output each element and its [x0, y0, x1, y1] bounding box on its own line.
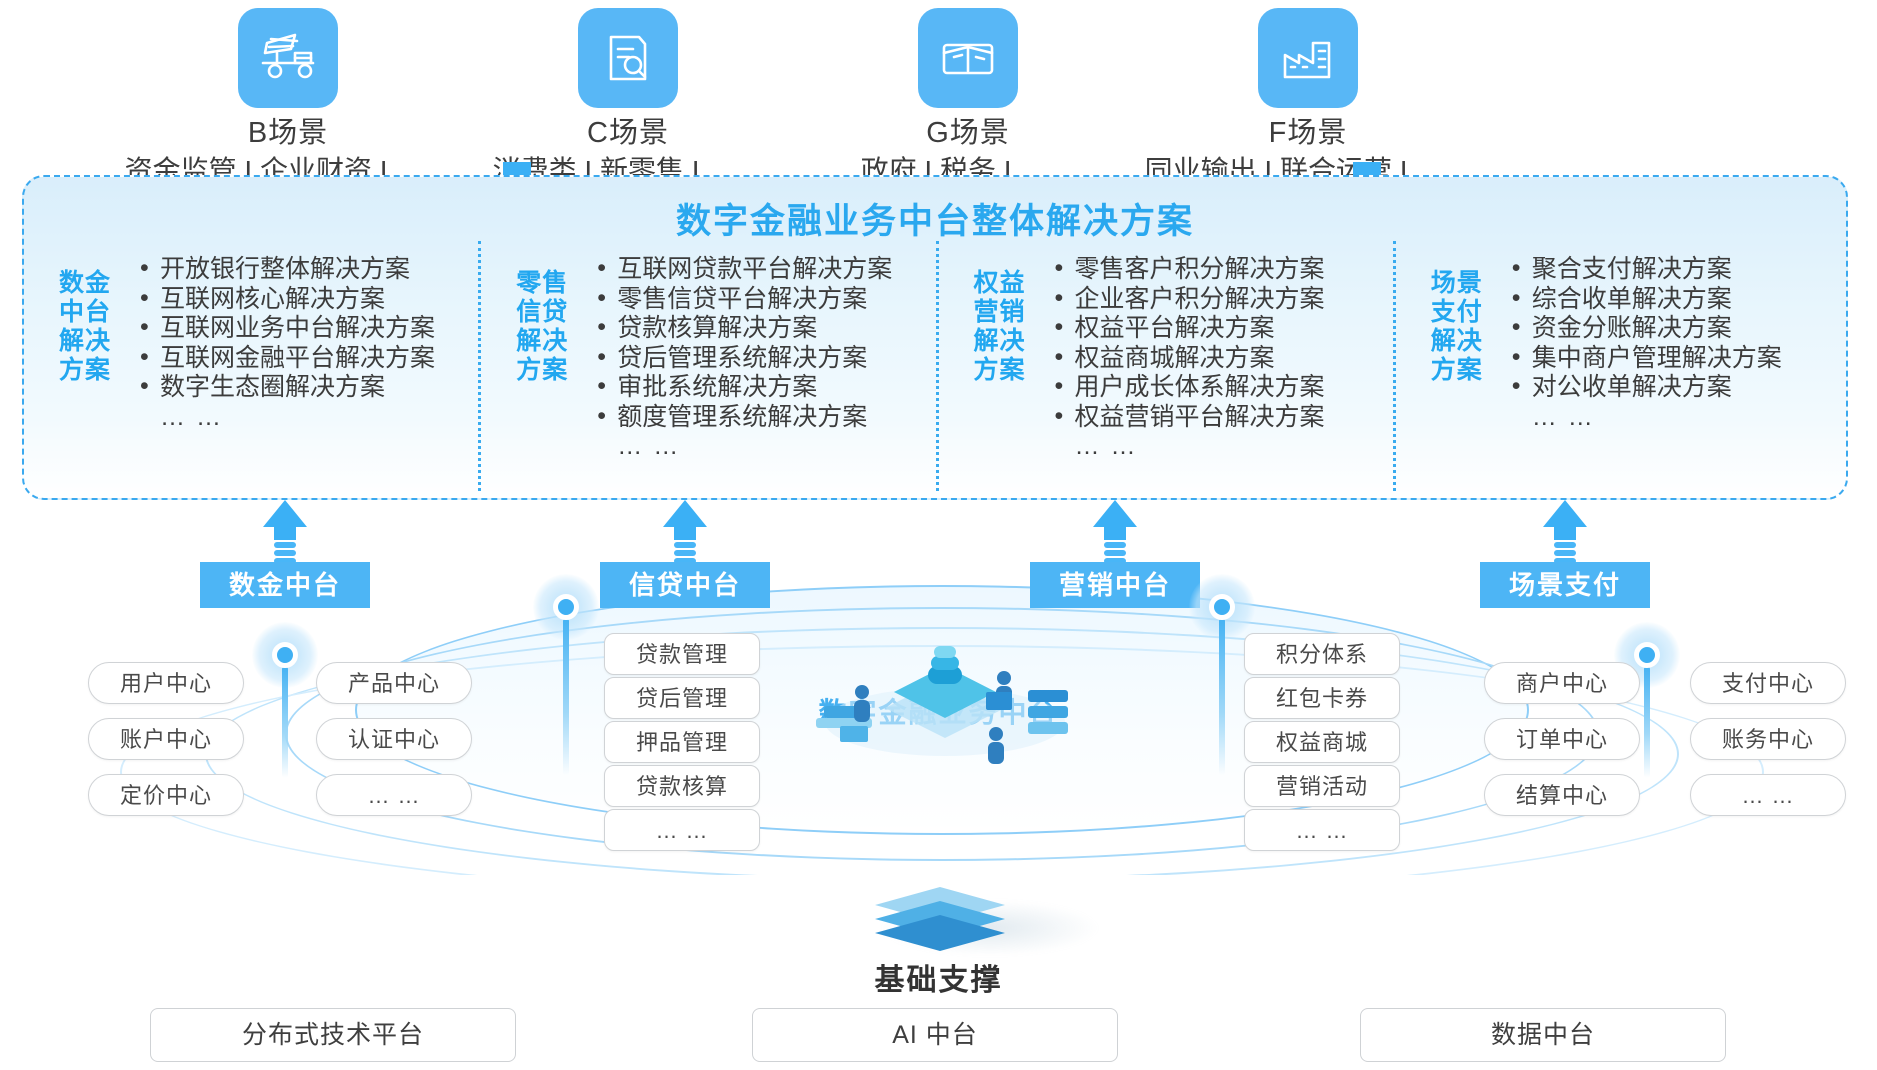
solution-item-more: … …: [1510, 403, 1782, 433]
pill-pricing-center[interactable]: 定价中心: [88, 774, 244, 816]
solution-item: 集中商户管理解决方案: [1510, 344, 1782, 374]
pill-user-center[interactable]: 用户中心: [88, 662, 244, 704]
solution-item-more: … …: [1053, 432, 1325, 462]
pill-auth-center[interactable]: 认证中心: [316, 718, 472, 760]
solution-item-list: 互联网贷款平台解决方案 零售信贷平台解决方案 贷款核算解决方案 贷后管理系统解决…: [581, 255, 898, 462]
solution-band: 数字金融业务中台整体解决方案 数金 中台 解决 方案 开放银行整体解决方案 互联…: [22, 175, 1848, 500]
platform-chip-zhifu[interactable]: 场景支付: [1480, 562, 1650, 608]
pill-product-center[interactable]: 产品中心: [316, 662, 472, 704]
solution-item: 开放银行整体解决方案: [138, 255, 435, 285]
pill-payment-center[interactable]: 支付中心: [1690, 662, 1846, 704]
solution-item: 互联网核心解决方案: [138, 285, 435, 315]
pill-benefit-mall[interactable]: 权益商城: [1244, 721, 1400, 763]
diagram-canvas: B场景 资金监管 I 企业财资 I …… C场景 消费类 I 新零售 I ……: [0, 0, 1877, 1070]
stem-yingxiao: [1215, 600, 1229, 775]
solution-column-label: 权益 营销 解决 方案: [961, 269, 1039, 385]
pill-loan-management[interactable]: 贷款管理: [604, 633, 760, 675]
pill-order-center[interactable]: 订单中心: [1484, 718, 1640, 760]
base-support-title: 基础支撑: [0, 955, 1877, 999]
scene-card-f[interactable]: F场景 同业输出 I 联合运营 I ……: [1098, 8, 1518, 190]
platform-chip-shujin[interactable]: 数金中台: [200, 562, 370, 608]
base-box-distributed-platform[interactable]: 分布式技术平台: [150, 1008, 516, 1062]
pill-loan-accounting[interactable]: 贷款核算: [604, 765, 760, 807]
pill-more-zhifu[interactable]: … …: [1690, 774, 1846, 816]
solution-item: 企业客户积分解决方案: [1053, 285, 1325, 315]
base-box-data-platform[interactable]: 数据中台: [1360, 1008, 1726, 1062]
pill-coupon[interactable]: 红包卡券: [1244, 677, 1400, 719]
solution-column-label: 数金 中台 解决 方案: [46, 269, 124, 385]
pill-more-shujin[interactable]: … …: [316, 774, 472, 816]
solution-item-more: … …: [138, 403, 435, 433]
pill-settlement-center[interactable]: 结算中心: [1484, 774, 1640, 816]
solution-item: 数字生态圈解决方案: [138, 373, 435, 403]
solution-item-list: 零售客户积分解决方案 企业客户积分解决方案 权益平台解决方案 权益商城解决方案 …: [1039, 255, 1331, 462]
solution-item: 互联网业务中台解决方案: [138, 314, 435, 344]
solution-item: 聚合支付解决方案: [1510, 255, 1782, 285]
ship-truck-icon: [238, 8, 338, 108]
scene-title: F场景: [1098, 114, 1518, 152]
solution-item: 互联网贷款平台解决方案: [595, 255, 892, 285]
solution-item: 零售客户积分解决方案: [1053, 255, 1325, 285]
pill-more-xindai[interactable]: … …: [604, 809, 760, 851]
pill-merchant-center[interactable]: 商户中心: [1484, 662, 1640, 704]
solution-item: 权益商城解决方案: [1053, 344, 1325, 374]
solution-item: 贷款核算解决方案: [595, 314, 892, 344]
solution-item: 审批系统解决方案: [595, 373, 892, 403]
stem-shujin: [278, 648, 292, 778]
factory-icon: [1258, 8, 1358, 108]
solution-item: 贷后管理系统解决方案: [595, 344, 892, 374]
stem-zhifu: [1640, 648, 1654, 778]
solution-column-label: 场景 支付 解决 方案: [1418, 269, 1496, 385]
pill-marketing-campaign[interactable]: 营销活动: [1244, 765, 1400, 807]
layers-stack-icon: [855, 885, 1025, 955]
center-illustration-icon: [800, 630, 1090, 770]
solution-item: 对公收单解决方案: [1510, 373, 1782, 403]
solution-column-label: 零售 信贷 解决 方案: [503, 269, 581, 385]
solution-item: 综合收单解决方案: [1510, 285, 1782, 315]
solution-column-changjing: 场景 支付 解决 方案 聚合支付解决方案 综合收单解决方案 资金分账解决方案 集…: [1393, 241, 1850, 491]
solution-item: 权益平台解决方案: [1053, 314, 1325, 344]
solution-item-list: 聚合支付解决方案 综合收单解决方案 资金分账解决方案 集中商户管理解决方案 对公…: [1496, 255, 1788, 432]
solution-title: 数字金融业务中台整体解决方案: [24, 193, 1846, 244]
pill-account-center[interactable]: 账户中心: [88, 718, 244, 760]
solution-item: 资金分账解决方案: [1510, 314, 1782, 344]
document-check-icon: [578, 8, 678, 108]
solution-column-quanyi: 权益 营销 解决 方案 零售客户积分解决方案 企业客户积分解决方案 权益平台解决…: [936, 241, 1393, 491]
solution-column-lingshou: 零售 信贷 解决 方案 互联网贷款平台解决方案 零售信贷平台解决方案 贷款核算解…: [478, 241, 935, 491]
solution-item: 零售信贷平台解决方案: [595, 285, 892, 315]
stem-xindai: [559, 600, 573, 775]
pill-more-yingxiao[interactable]: … …: [1244, 809, 1400, 851]
solution-item-more: … …: [595, 432, 892, 462]
pill-accounting-center[interactable]: 账务中心: [1690, 718, 1846, 760]
platform-chip-xindai[interactable]: 信贷中台: [600, 562, 770, 608]
solution-item-list: 开放银行整体解决方案 互联网核心解决方案 互联网业务中台解决方案 互联网金融平台…: [124, 255, 441, 432]
solution-item: 用户成长体系解决方案: [1053, 373, 1325, 403]
solution-item: 额度管理系统解决方案: [595, 403, 892, 433]
pill-collateral-management[interactable]: 押品管理: [604, 721, 760, 763]
solution-item: 权益营销平台解决方案: [1053, 403, 1325, 433]
solution-column-shujin: 数金 中台 解决 方案 开放银行整体解决方案 互联网核心解决方案 互联网业务中台…: [24, 241, 478, 491]
pill-points-system[interactable]: 积分体系: [1244, 633, 1400, 675]
solution-item: 互联网金融平台解决方案: [138, 344, 435, 374]
base-box-ai-platform[interactable]: AI 中台: [752, 1008, 1118, 1062]
solution-columns: 数金 中台 解决 方案 开放银行整体解决方案 互联网核心解决方案 互联网业务中台…: [24, 241, 1850, 491]
government-building-icon: [918, 8, 1018, 108]
scenes-row: B场景 资金监管 I 企业财资 I …… C场景 消费类 I 新零售 I ……: [0, 0, 1877, 176]
pill-post-loan-management[interactable]: 贷后管理: [604, 677, 760, 719]
platform-chip-yingxiao[interactable]: 营销中台: [1030, 562, 1200, 608]
